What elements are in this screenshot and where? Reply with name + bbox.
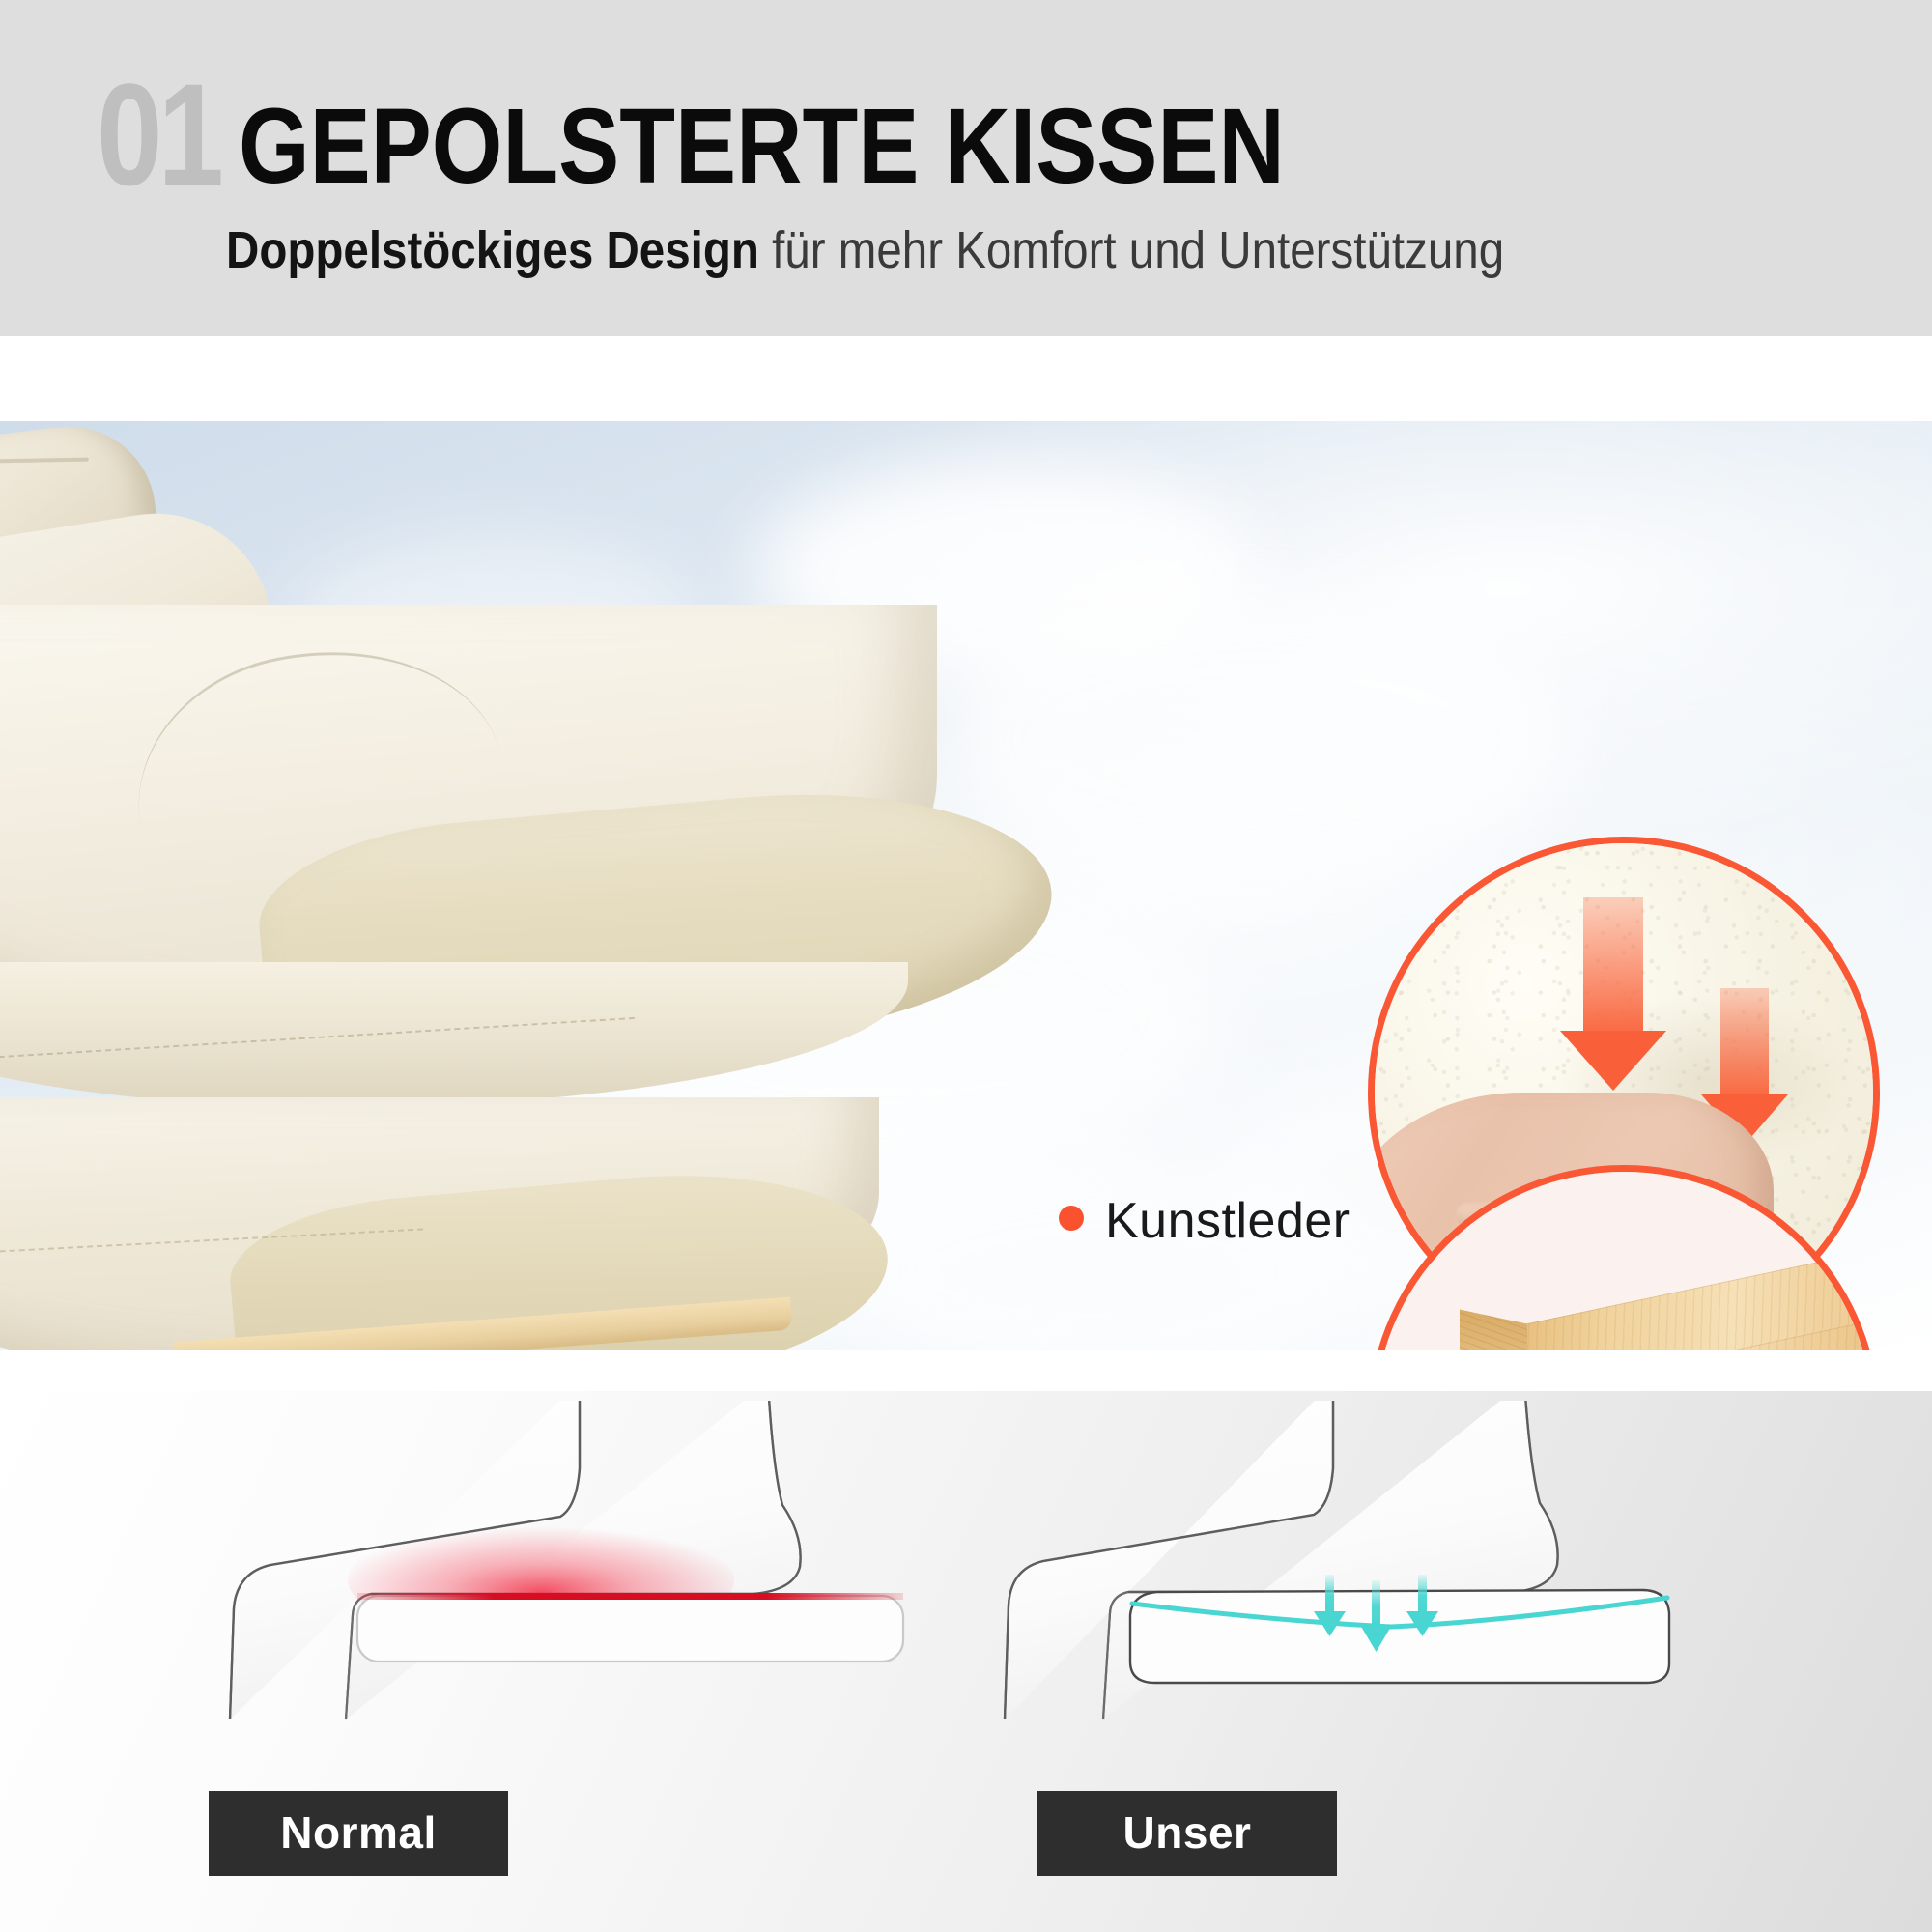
callout-kunstleder-label: Kunstleder	[1105, 1192, 1350, 1250]
title-row: 01 GEPOLSTERTE KISSEN	[97, 75, 1855, 194]
page-title: GEPOLSTERTE KISSEN	[239, 99, 1285, 194]
comparison-panel-unser: Unser	[985, 1391, 1777, 1932]
comparison-section: Normal	[0, 1391, 1932, 1932]
subtitle-strong: Doppelstöckiges Design	[226, 221, 759, 279]
callout-kunstleder: Kunstleder	[1059, 1192, 1350, 1250]
header-content: 01 GEPOLSTERTE KISSEN Doppelstöckiges De…	[97, 75, 1855, 278]
section-number: 01	[97, 75, 219, 194]
infographic-page: 01 GEPOLSTERTE KISSEN Doppelstöckiges De…	[0, 0, 1932, 1932]
header-band: 01 GEPOLSTERTE KISSEN Doppelstöckiges De…	[0, 0, 1932, 336]
contoured-cushion	[1130, 1590, 1669, 1683]
comparison-panel-normal: Normal	[155, 1391, 947, 1932]
badge-unser: Unser	[1037, 1791, 1337, 1876]
subtitle: Doppelstöckiges Design für mehr Komfort …	[226, 223, 1660, 278]
pressure-line	[357, 1593, 903, 1600]
badge-normal: Normal	[209, 1791, 508, 1876]
inset-wood-frame	[1368, 1165, 1880, 1350]
product-photo-stage: Kunstleder Hochdichter Schaumstoff	[0, 421, 1932, 1350]
our-posture-diagram	[985, 1401, 1777, 1826]
subtitle-light: für mehr Komfort und Unterstützung	[759, 221, 1504, 279]
cushion-product-image	[0, 421, 1082, 1350]
callout-dot-icon	[1059, 1206, 1084, 1231]
flat-cushion	[357, 1596, 903, 1662]
normal-posture-diagram	[155, 1401, 947, 1826]
